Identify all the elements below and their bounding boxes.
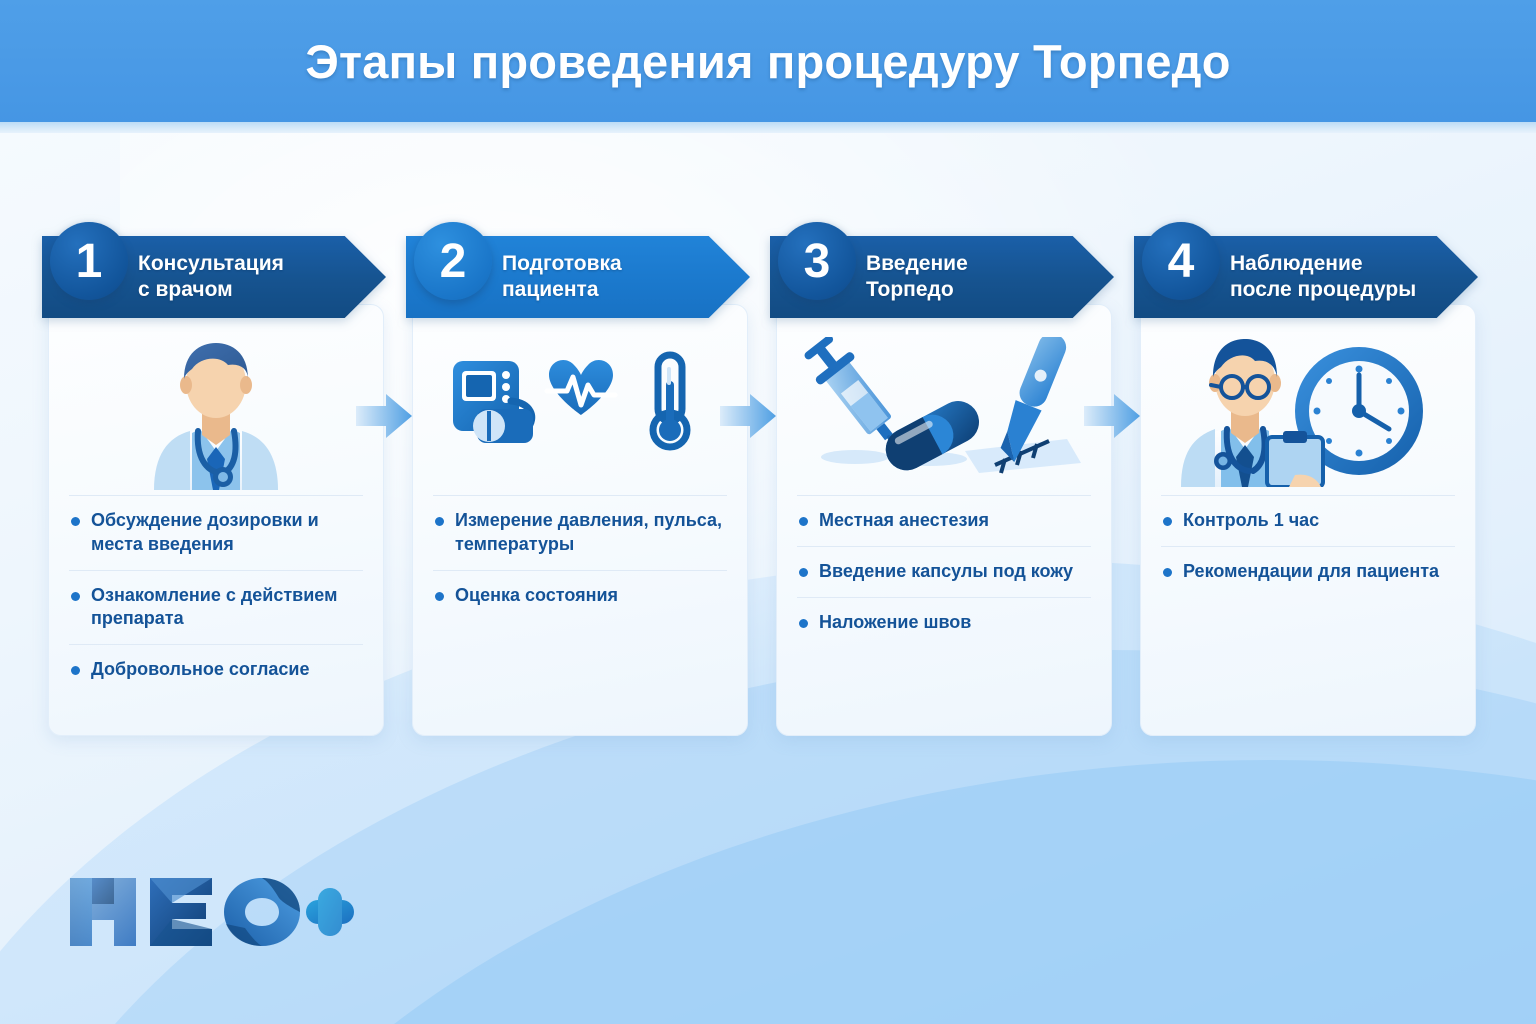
step-card-1[interactable]: Обсуждение дозировки и места введения Оз… — [48, 304, 384, 736]
list-item[interactable]: Введение капсулы под кожу — [797, 546, 1091, 597]
step-banner-2[interactable]: 2 Подготовка пациента — [406, 236, 750, 318]
bullet-dot-icon — [1163, 568, 1172, 577]
step-4-bullets: Контроль 1 час Рекомендации для пациента — [1161, 495, 1455, 597]
list-item[interactable]: Местная анестезия — [797, 495, 1091, 546]
bullet-text: Измерение давления, пульса, температуры — [455, 509, 725, 557]
step-title-line1: Консультация — [138, 251, 350, 277]
step-card-4[interactable]: Контроль 1 час Рекомендации для пациента — [1140, 304, 1476, 736]
step-title-line1: Введение — [866, 251, 1078, 277]
step-title-line2: с врачом — [138, 277, 350, 303]
bullet-dot-icon — [799, 568, 808, 577]
step-title-line1: Подготовка — [502, 251, 714, 277]
page-header: Этапы проведения процедуру Торпедо — [0, 0, 1536, 122]
doctor-clipboard-clock-icon — [1141, 319, 1475, 495]
bullet-text: Ознакомление с действием препарата — [91, 584, 361, 632]
bullet-text: Контроль 1 час — [1183, 509, 1319, 533]
list-item[interactable]: Ознакомление с действием препарата — [69, 570, 363, 645]
bullet-text: Добровольное согласие — [91, 658, 310, 682]
list-item[interactable]: Обсуждение дозировки и места введения — [69, 495, 363, 570]
arrow-step-1-to-2 — [356, 392, 412, 440]
step-number-badge-2: 2 — [414, 222, 492, 300]
list-item[interactable]: Контроль 1 час — [1161, 495, 1455, 546]
bullet-dot-icon — [71, 517, 80, 526]
step-3-bullets: Местная анестезия Введение капсулы под к… — [797, 495, 1091, 647]
step-title-4: Наблюдение после процедуры — [1230, 236, 1442, 318]
bullet-dot-icon — [71, 592, 80, 601]
step-card-3[interactable]: Местная анестезия Введение капсулы под к… — [776, 304, 1112, 736]
page-title: Этапы проведения процедуру Торпедо — [305, 34, 1230, 89]
step-title-line2: после процедуры — [1230, 277, 1442, 303]
step-title-3: Введение Торпедо — [866, 236, 1078, 318]
step-1-bullets: Обсуждение дозировки и места введения Оз… — [69, 495, 363, 695]
list-item[interactable]: Добровольное согласие — [69, 644, 363, 695]
step-title-line1: Наблюдение — [1230, 251, 1442, 277]
list-item[interactable]: Оценка состояния — [433, 570, 727, 621]
bullet-dot-icon — [1163, 517, 1172, 526]
step-number-badge-3: 3 — [778, 222, 856, 300]
step-title-line2: пациента — [502, 277, 714, 303]
bullet-dot-icon — [799, 517, 808, 526]
bullet-text: Введение капсулы под кожу — [819, 560, 1073, 584]
bullet-text: Оценка состояния — [455, 584, 618, 608]
step-number-badge-4: 4 — [1142, 222, 1220, 300]
step-title-line2: Торпедо — [866, 277, 1078, 303]
doctor-stethoscope-icon — [49, 319, 383, 495]
step-title-2: Подготовка пациента — [502, 236, 714, 318]
bullet-dot-icon — [71, 666, 80, 675]
bullet-dot-icon — [799, 619, 808, 628]
step-banner-1[interactable]: 1 Консультация с врачом — [42, 236, 386, 318]
bullet-dot-icon — [435, 517, 444, 526]
step-card-2[interactable]: Измерение давления, пульса, температуры … — [412, 304, 748, 736]
bullet-text: Местная анестезия — [819, 509, 989, 533]
neo-plus-logo[interactable]: НЕО+ — [66, 868, 356, 954]
vitals-monitor-heart-thermometer-icon — [413, 319, 747, 495]
header-underline — [0, 122, 1536, 133]
syringe-capsule-scalpel-icon — [777, 319, 1111, 495]
step-title-1: Консультация с врачом — [138, 236, 350, 318]
arrow-step-2-to-3 — [720, 392, 776, 440]
step-2-bullets: Измерение давления, пульса, температуры … — [433, 495, 727, 620]
step-banner-3[interactable]: 3 Введение Торпедо — [770, 236, 1114, 318]
list-item[interactable]: Рекомендации для пациента — [1161, 546, 1455, 597]
list-item[interactable]: Измерение давления, пульса, температуры — [433, 495, 727, 570]
step-banner-4[interactable]: 4 Наблюдение после процедуры — [1134, 236, 1478, 318]
bullet-text: Наложение швов — [819, 611, 971, 635]
list-item[interactable]: Наложение швов — [797, 597, 1091, 648]
arrow-step-3-to-4 — [1084, 392, 1140, 440]
bullet-text: Рекомендации для пациента — [1183, 560, 1439, 584]
bullet-text: Обсуждение дозировки и места введения — [91, 509, 361, 557]
bullet-dot-icon — [435, 592, 444, 601]
step-number-badge-1: 1 — [50, 222, 128, 300]
